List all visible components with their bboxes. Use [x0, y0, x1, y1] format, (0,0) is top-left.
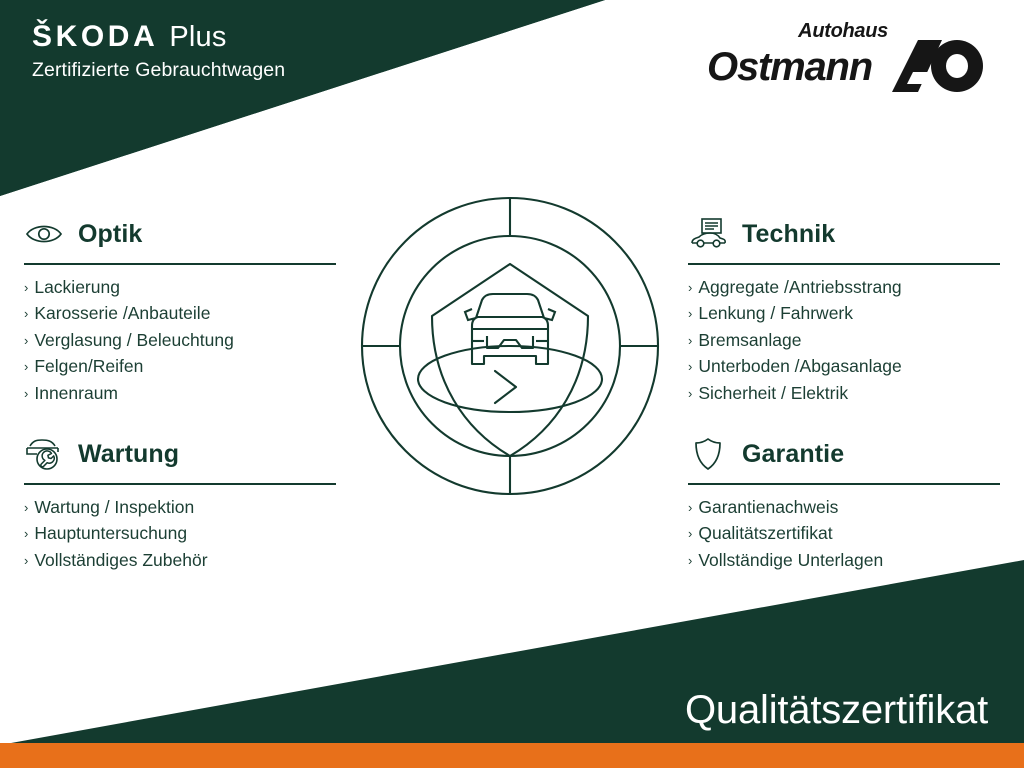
- list-item-label: Karosserie /Anbauteile: [34, 301, 210, 326]
- skoda-subtitle: Zertifizierte Gebrauchtwagen: [32, 59, 285, 82]
- list-item: ›Lenkung / Fahrwerk: [688, 301, 1000, 328]
- section-wartung-list: ›Wartung / Inspektion ›Hauptuntersuchung…: [24, 495, 336, 575]
- list-item: ›Vollständiges Zubehör: [24, 548, 336, 575]
- list-item-label: Qualitätszertifikat: [698, 521, 832, 546]
- section-garantie-header: Garantie: [688, 434, 1000, 474]
- list-item-label: Garantienachweis: [698, 495, 838, 520]
- list-item: ›Innenraum: [24, 381, 336, 408]
- skoda-word: ŠKODA: [32, 22, 158, 52]
- list-item-label: Sicherheit / Elektrik: [698, 381, 848, 406]
- list-item: ›Aggregate /Antriebsstrang: [688, 275, 1000, 302]
- dealer-ao-monogram-icon: [880, 38, 988, 94]
- chevron-right-icon: ›: [688, 522, 692, 547]
- list-item-label: Bremsanlage: [698, 328, 801, 353]
- list-item: ›Unterboden /Abgasanlage: [688, 354, 1000, 381]
- list-item: ›Lackierung: [24, 275, 336, 302]
- chevron-right-icon: ›: [688, 382, 692, 407]
- list-item-label: Vollständiges Zubehör: [34, 548, 207, 573]
- chevron-right-icon: ›: [688, 496, 692, 521]
- chevron-right-icon: ›: [688, 302, 692, 327]
- chevron-right-icon: ›: [24, 355, 28, 380]
- list-item-label: Wartung / Inspektion: [34, 495, 194, 520]
- chevron-right-icon: ›: [24, 276, 28, 301]
- chevron-right-icon: ›: [24, 496, 28, 521]
- shield-icon: [688, 437, 728, 471]
- list-item: ›Bremsanlage: [688, 328, 1000, 355]
- section-garantie-title: Garantie: [742, 442, 844, 467]
- list-item: ›Hauptuntersuchung: [24, 521, 336, 548]
- list-item: ›Felgen/Reifen: [24, 354, 336, 381]
- chevron-right-icon: ›: [688, 549, 692, 574]
- chevron-right-icon: ›: [688, 276, 692, 301]
- skoda-wordmark: ŠKODA Plus: [32, 22, 285, 52]
- certificate-page: ŠKODA Plus Zertifizierte Gebrauchtwagen …: [0, 0, 1024, 768]
- section-optik-title: Optik: [78, 222, 142, 247]
- list-item: ›Verglasung / Beleuchtung: [24, 328, 336, 355]
- dealer-logo-main: Ostmann: [707, 38, 988, 96]
- section-optik-list: ›Lackierung ›Karosserie /Anbauteile ›Ver…: [24, 275, 336, 408]
- section-wartung-rule: [24, 483, 336, 485]
- section-technik-header: Technik: [688, 214, 1000, 254]
- chevron-right-icon: ›: [688, 355, 692, 380]
- list-item: ›Garantienachweis: [688, 495, 1000, 522]
- section-wartung-title: Wartung: [78, 442, 179, 467]
- list-item-label: Innenraum: [34, 381, 118, 406]
- list-item: ›Karosserie /Anbauteile: [24, 301, 336, 328]
- chevron-right-icon: ›: [24, 382, 28, 407]
- list-item: ›Vollständige Unterlagen: [688, 548, 1000, 575]
- section-garantie-list: ›Garantienachweis ›Qualitätszertifikat ›…: [688, 495, 1000, 575]
- list-item-label: Hauptuntersuchung: [34, 521, 187, 546]
- list-item-label: Vollständige Unterlagen: [698, 548, 883, 573]
- section-technik-list: ›Aggregate /Antriebsstrang ›Lenkung / Fa…: [688, 275, 1000, 408]
- footer-title: Qualitätszertifikat: [685, 690, 988, 730]
- section-wartung-header: Wartung: [24, 434, 336, 474]
- section-garantie-rule: [688, 483, 1000, 485]
- section-optik-header: Optik: [24, 214, 336, 254]
- section-optik: Optik ›Lackierung ›Karosserie /Anbauteil…: [24, 214, 336, 407]
- section-technik-title: Technik: [742, 222, 835, 247]
- section-technik-rule: [688, 263, 1000, 265]
- list-item-label: Lenkung / Fahrwerk: [698, 301, 853, 326]
- chevron-right-icon: ›: [24, 302, 28, 327]
- list-item: ›Qualitätszertifikat: [688, 521, 1000, 548]
- car-wrench-icon: [24, 437, 64, 471]
- list-item: ›Wartung / Inspektion: [24, 495, 336, 522]
- list-item: ›Sicherheit / Elektrik: [688, 381, 1000, 408]
- list-item-label: Felgen/Reifen: [34, 354, 143, 379]
- chevron-right-icon: ›: [24, 329, 28, 354]
- chevron-right-icon: ›: [24, 522, 28, 547]
- chevron-right-icon: ›: [24, 549, 28, 574]
- dealer-logo-name: Ostmann: [707, 47, 872, 87]
- eye-icon: [24, 217, 64, 251]
- section-garantie: Garantie ›Garantienachweis ›Qualitätszer…: [688, 434, 1000, 574]
- certification-emblem-icon: [360, 196, 660, 496]
- list-item-label: Unterboden /Abgasanlage: [698, 354, 901, 379]
- skoda-plus-word: Plus: [169, 23, 226, 52]
- list-item-label: Lackierung: [34, 275, 120, 300]
- section-optik-rule: [24, 263, 336, 265]
- orange-footer-bar: [0, 743, 1024, 768]
- car-document-icon: [688, 217, 728, 251]
- skoda-brand-lockup: ŠKODA Plus Zertifizierte Gebrauchtwagen: [32, 22, 285, 82]
- dealer-logo: Autohaus Ostmann: [707, 20, 988, 96]
- list-item-label: Verglasung / Beleuchtung: [34, 328, 233, 353]
- list-item-label: Aggregate /Antriebsstrang: [698, 275, 901, 300]
- section-technik: Technik ›Aggregate /Antriebsstrang ›Lenk…: [688, 214, 1000, 407]
- chevron-right-icon: ›: [688, 329, 692, 354]
- section-wartung: Wartung ›Wartung / Inspektion ›Hauptunte…: [24, 434, 336, 574]
